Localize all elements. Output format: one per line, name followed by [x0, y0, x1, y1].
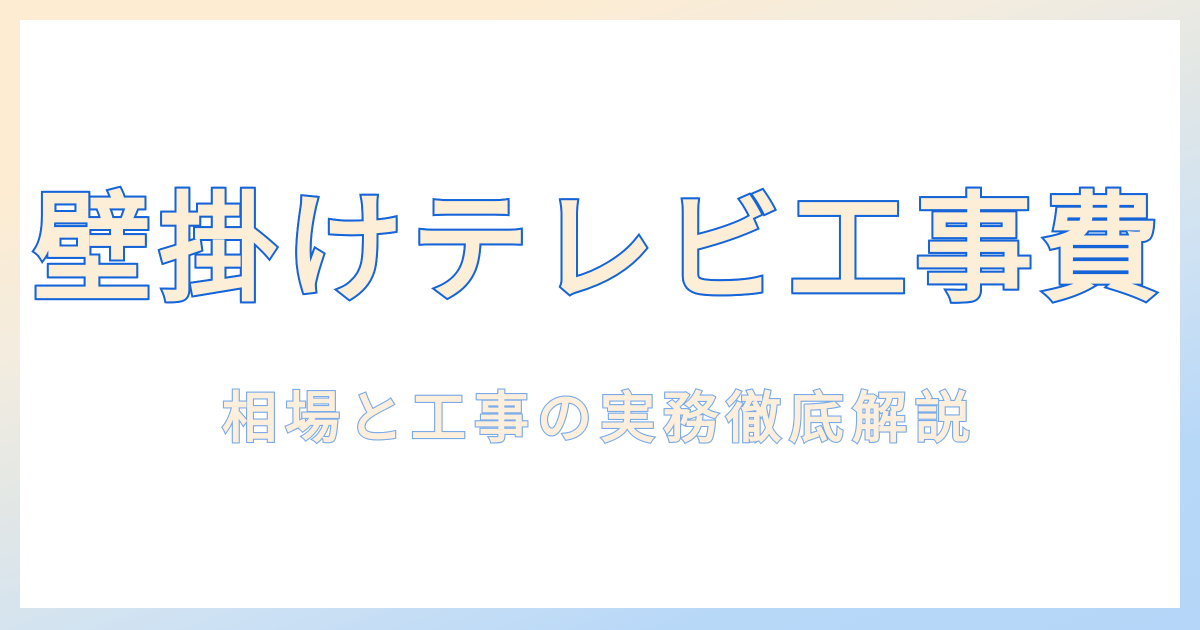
title-block: 壁掛けテレビ工事費 — [20, 186, 1180, 313]
poster-content-stack: 壁掛けテレビ工事費 相場と工事の実務徹底解説 — [20, 20, 1180, 608]
page-subtitle: 相場と工事の実務徹底解説 — [222, 388, 978, 450]
page-title: 壁掛けテレビ工事費 — [33, 186, 1167, 313]
poster-frame: 壁掛けテレビ工事費 相場と工事の実務徹底解説 — [0, 0, 1200, 630]
poster-canvas: 壁掛けテレビ工事費 相場と工事の実務徹底解説 — [20, 20, 1180, 608]
subtitle-block: 相場と工事の実務徹底解説 — [20, 388, 1180, 450]
